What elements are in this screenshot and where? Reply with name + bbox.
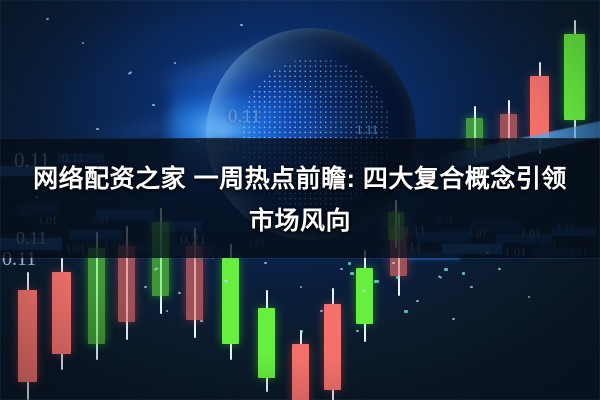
title-line-1: 网络配资之家 一周热点前瞻: 四大复合概念引领 xyxy=(33,165,567,193)
title-line-2: 市场风向 xyxy=(0,200,600,242)
band-top-divider xyxy=(0,138,600,139)
band-bottom-divider xyxy=(0,258,600,259)
page-title: 网络配资之家 一周热点前瞻: 四大复合概念引领 市场风向 xyxy=(0,158,600,242)
promo-banner: 0.110.111.010.110.111.011.011.010.110.21… xyxy=(0,0,600,400)
